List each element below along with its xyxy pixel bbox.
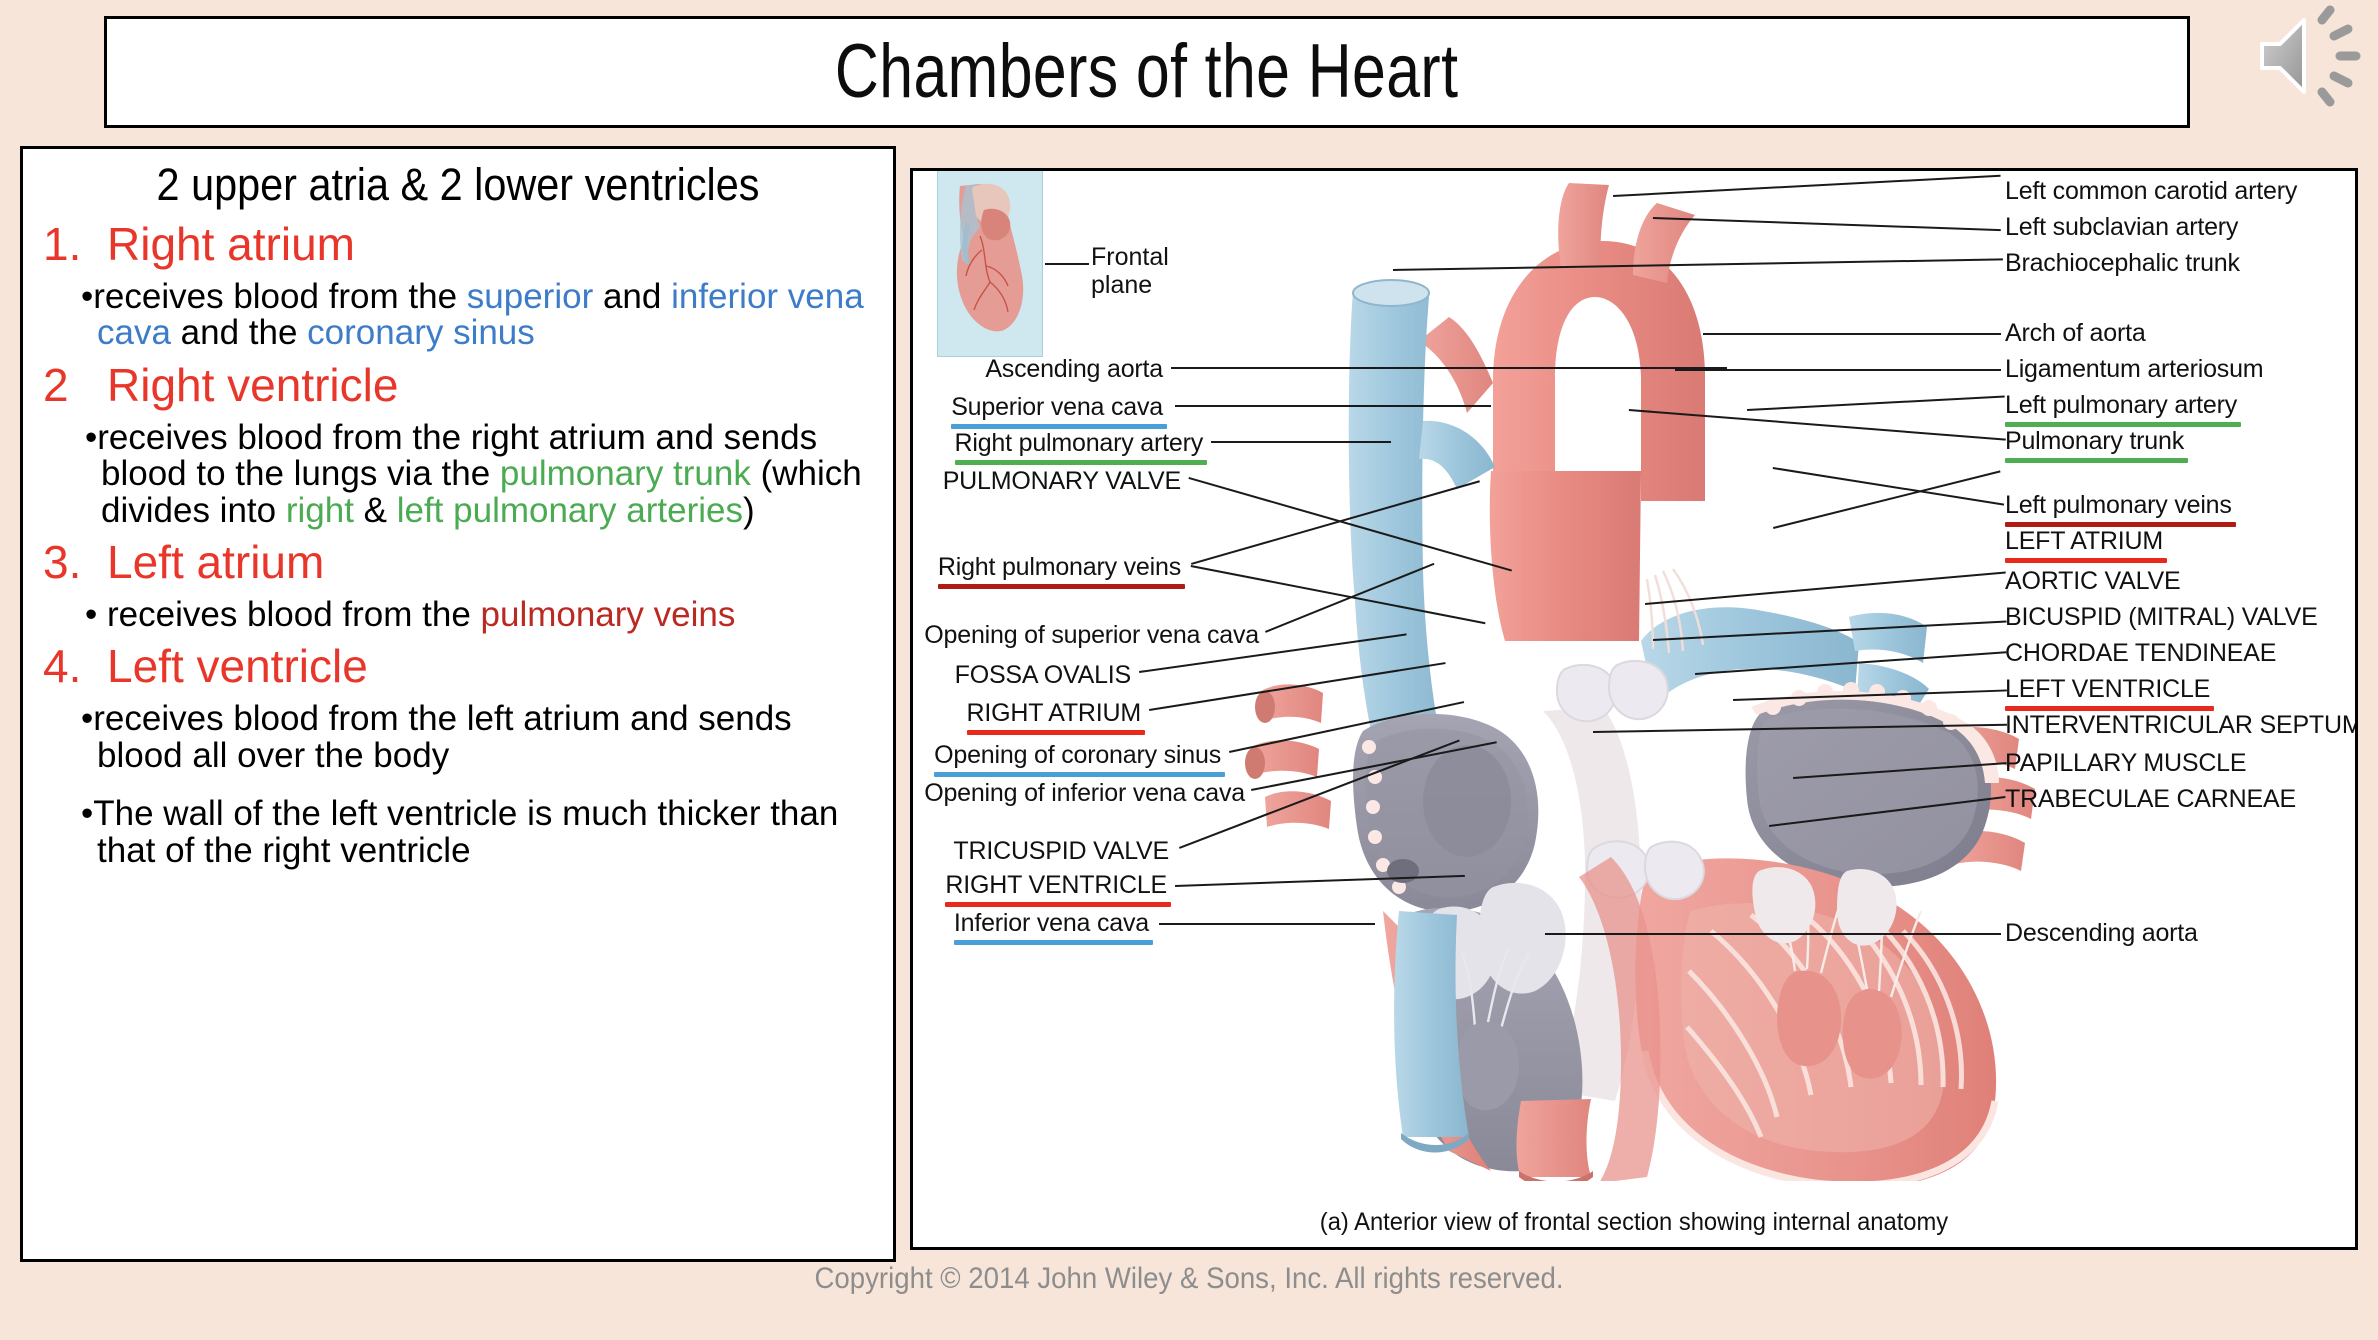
diagram-label-opening-coronary-sinus: Opening of coronary sinus [913,741,1221,770]
leader-right-pulmonary-artery [1211,441,1391,443]
diagram-label-left-pulmonary-artery: Left pulmonary artery [2005,391,2237,420]
diagram-label-right-pulmonary-veins: Right pulmonary veins [913,553,1181,582]
heart-diagram-panel: Frontal plane [910,168,2358,1250]
diagram-label-descending-aorta: Descending aorta [2005,919,2198,948]
diagram-label-right-ventricle: RIGHT VENTRICLE [913,871,1167,900]
chapter-right-atrium: 1. Right atrium [33,217,883,271]
bullet-marker: • [85,418,97,457]
bullets-left-atrium: • receives blood from the pulmonary vein… [33,597,883,633]
label-text: PULMONARY VALVE [943,467,1181,495]
diagram-label-left-common-carotid-artery: Left common carotid artery [2005,177,2297,206]
diagram-label-right-atrium: RIGHT ATRIUM [913,699,1141,728]
leader-superior-vena-cava [1175,405,1491,407]
seg: left pulmonary arteries [397,491,743,530]
diagram-label-left-pulmonary-veins: Left pulmonary veins [2005,491,2232,520]
frontal-plane-line2: plane [1091,271,1169,299]
diagram-label-fossa-ovalis: FOSSA OVALIS [913,661,1131,690]
chapter-number: 3. [33,535,107,589]
label-text: PAPILLARY MUSCLE [2005,749,2246,777]
label-text: Left pulmonary artery [2005,391,2237,420]
leader-frontal-plane [1045,263,1089,265]
seg: receives blood from the left atrium and … [93,699,791,774]
bullet-item: •receives blood from the left atrium and… [81,701,883,774]
label-text: Superior vena cava [951,393,1163,422]
seg: pulmonary trunk [500,454,751,493]
label-text: RIGHT VENTRICLE [945,871,1167,900]
speaker-icon[interactable] [2252,4,2370,108]
label-text: Ascending aorta [985,355,1163,383]
label-text: RIGHT ATRIUM [967,699,1141,728]
label-text: Left pulmonary veins [2005,491,2232,520]
frontal-plane-label: Frontal plane [1091,243,1169,299]
seg: right [286,491,354,530]
bullet-marker: • [81,277,93,316]
leader-ascending-aorta [1171,367,1727,369]
label-text: Left subclavian artery [2005,213,2238,241]
diagram-label-papillary-muscle: PAPILLARY MUSCLE [2005,749,2246,778]
label-text: LEFT VENTRICLE [2005,675,2210,704]
label-text: LEFT ATRIUM [2005,527,2163,556]
diagram-label-interventricular-septum: INTERVENTRICULAR SEPTUM [2005,711,2358,740]
inset-heart-illustration [946,180,1034,344]
label-text: Opening of superior vena cava [924,621,1259,649]
diagram-label-trabeculae-carneae: TRABECULAE CARNEAE [2005,785,2296,814]
chapter-number: 4. [33,639,107,693]
bullet-marker: • [85,595,97,634]
seg: coronary sinus [307,313,535,352]
label-text: Descending aorta [2005,919,2198,947]
bullets-left-ventricle: •receives blood from the left atrium and… [33,701,883,869]
chapter-number: 2 [33,358,107,412]
diagram-label-ascending-aorta: Ascending aorta [913,355,1163,384]
leader-inferior-vena-cava [1159,923,1375,925]
chapter-heading: Right ventricle [107,358,398,412]
diagram-label-opening-superior-vena-cava: Opening of superior vena cava [913,621,1259,650]
label-text: TRICUSPID VALVE [953,837,1169,865]
label-text: CHORDAE TENDINEAE [2005,639,2276,667]
seg: and the [171,313,307,352]
diagram-label-chordae-tendineae: CHORDAE TENDINEAE [2005,639,2276,668]
seg: ) [743,491,755,530]
label-text: Arch of aorta [2005,319,2146,347]
bullets-right-atrium: •receives blood from the superior and in… [33,279,883,352]
chapter-heading: Left atrium [107,535,324,589]
label-text: FOSSA OVALIS [955,661,1131,689]
bullet-item: • receives blood from the pulmonary vein… [85,597,883,633]
diagram-label-opening-inferior-vena-cava: Opening of inferior vena cava [913,779,1245,808]
diagram-label-brachiocephalic-trunk: Brachiocephalic trunk [2005,249,2240,278]
diagram-label-pulmonary-trunk: Pulmonary trunk [2005,427,2184,456]
seg: superior [467,277,593,316]
bullets-right-ventricle: •receives blood from the right atrium an… [33,420,883,529]
label-text: INTERVENTRICULAR SEPTUM [2005,711,2358,739]
leader-ligamentum-arteriosum [1675,369,2001,371]
chapter-left-ventricle: 4. Left ventricle [33,639,883,693]
label-text: TRABECULAE CARNEAE [2005,785,2296,813]
chambers-text-panel: 2 upper atria & 2 lower ventricles 1. Ri… [20,146,896,1262]
diagram-label-tricuspid-valve: TRICUSPID VALVE [913,837,1169,866]
label-text: Pulmonary trunk [2005,427,2184,456]
label-text: Brachiocephalic trunk [2005,249,2240,277]
label-text: Opening of inferior vena cava [924,779,1245,807]
chapter-right-ventricle: 2 Right ventricle [33,358,883,412]
diagram-label-aortic-valve: AORTIC VALVE [2005,567,2180,596]
label-text: BICUSPID (MITRAL) VALVE [2005,603,2318,631]
seg: receives blood from the [93,277,467,316]
diagram-caption: (a) Anterior view of frontal section sho… [949,1208,2319,1237]
label-text: Right pulmonary veins [938,553,1181,582]
frontal-plane-line1: Frontal [1091,243,1169,271]
diagram-label-inferior-vena-cava: Inferior vena cava [913,909,1149,938]
bullet-marker: • [81,699,93,738]
seg: & [354,491,397,530]
label-text: AORTIC VALVE [2005,567,2180,595]
bullet-item: •receives blood from the superior and in… [81,279,883,352]
chapter-left-atrium: 3. Left atrium [33,535,883,589]
chapter-number: 1. [33,217,107,271]
label-text: Ligamentum arteriosum [2005,355,2263,383]
diagram-label-left-atrium: LEFT ATRIUM [2005,527,2163,556]
diagram-label-superior-vena-cava: Superior vena cava [913,393,1163,422]
diagram-label-left-subclavian-artery: Left subclavian artery [2005,213,2238,242]
seg: and [593,277,671,316]
copyright-notice: Copyright © 2014 John Wiley & Sons, Inc.… [95,1262,2283,1296]
label-text: Inferior vena cava [954,909,1149,938]
leader-arch-of-aorta [1703,333,2001,335]
seg: pulmonary veins [481,595,736,634]
diagram-label-arch-of-aorta: Arch of aorta [2005,319,2146,348]
bullet-item: •The wall of the left ventricle is much … [81,796,883,869]
seg: receives blood from the [97,595,480,634]
label-text: Right pulmonary artery [955,429,1203,458]
slide-title-box: Chambers of the Heart [104,16,2190,128]
diagram-label-bicuspid-mitral-valve: BICUSPID (MITRAL) VALVE [2005,603,2318,632]
diagram-label-left-ventricle: LEFT VENTRICLE [2005,675,2210,704]
label-text: Left common carotid artery [2005,177,2297,205]
bullet-marker: • [81,794,93,833]
diagram-label-pulmonary-valve: PULMONARY VALVE [913,467,1181,496]
chapter-heading: Left ventricle [107,639,368,693]
diagram-label-right-pulmonary-artery: Right pulmonary artery [913,429,1203,458]
diagram-label-ligamentum-arteriosum: Ligamentum arteriosum [2005,355,2263,384]
leader-descending-aorta [1545,933,2001,935]
seg: The wall of the left ventricle is much t… [93,794,838,869]
bullet-item: •receives blood from the right atrium an… [85,420,883,529]
page-title: Chambers of the Heart [835,34,1458,110]
intro-line: 2 upper atria & 2 lower ventricles [67,159,849,211]
chapter-heading: Right atrium [107,217,355,271]
label-text: Opening of coronary sinus [934,741,1221,770]
frontal-plane-inset [937,168,1043,357]
